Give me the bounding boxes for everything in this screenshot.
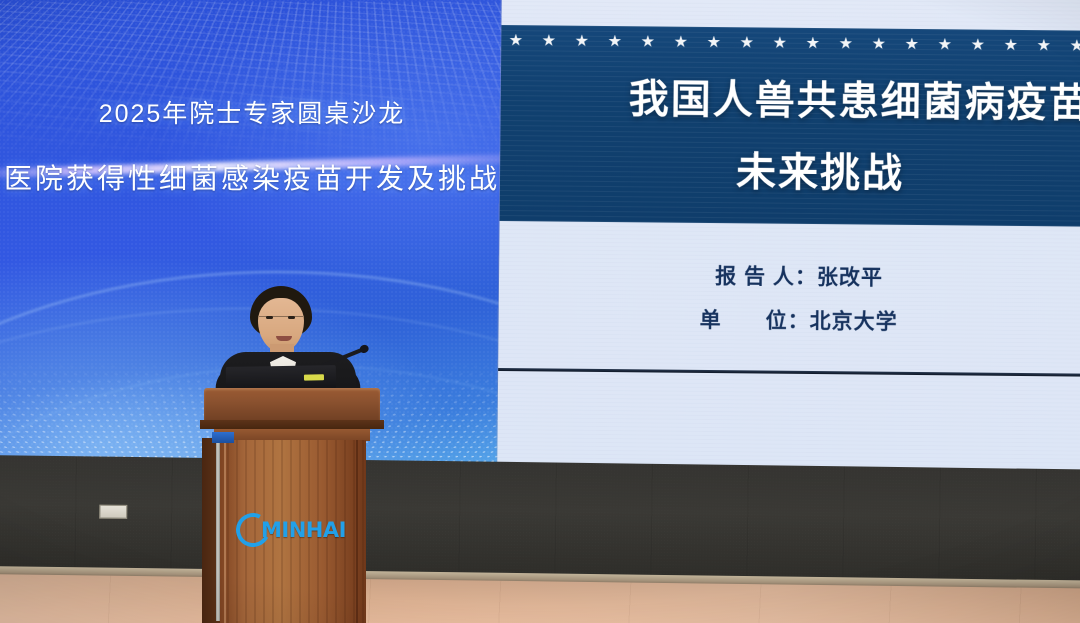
star-icon	[674, 35, 687, 48]
speaker-mouth	[276, 336, 292, 341]
slide-title-band: 我国人兽共患细菌病疫苗研 未来挑战	[500, 25, 1080, 227]
star-icon	[839, 37, 852, 50]
star-icon	[1070, 39, 1080, 52]
star-icon	[707, 35, 720, 48]
speaker-name-row: 报 告 人：张改平	[499, 258, 1080, 294]
speaker-affiliation-row: 单 位：北京大学	[499, 302, 1080, 338]
laptop-sticker	[304, 374, 324, 380]
star-icon	[905, 37, 918, 50]
stage-wall-band	[0, 455, 1080, 586]
star-icon	[872, 37, 885, 50]
star-icon	[971, 38, 984, 51]
minhai-arc-icon	[232, 509, 275, 552]
star-icon	[773, 36, 786, 49]
podium-blue-accent	[212, 432, 234, 443]
star-icon	[806, 36, 819, 49]
podium-metal-trim	[216, 443, 220, 621]
speaker-eye-left	[266, 316, 273, 319]
star-icon	[509, 34, 522, 47]
slide-speaker-info: 报 告 人：张改平 单 位：北京大学	[498, 258, 1080, 352]
star-icon	[575, 34, 588, 47]
slide-title: 我国人兽共患细菌病疫苗研 未来挑战	[500, 65, 1080, 201]
podium-lip	[200, 420, 384, 429]
star-icon	[740, 36, 753, 49]
star-icon	[542, 34, 555, 47]
speaker-eye-right	[288, 316, 295, 319]
podium-logo: MINHAI	[236, 512, 344, 548]
led-backdrop-text: 2025年院士专家圆桌沙龙 医院获得性细菌感染疫苗开发及挑战	[0, 94, 506, 197]
star-icon	[1004, 38, 1017, 51]
star-icon	[1037, 39, 1050, 52]
conference-stage-photo: 2025年院士专家圆桌沙龙 医院获得性细菌感染疫苗开发及挑战	[0, 0, 1080, 623]
slide-title-line-1: 我国人兽共患细菌病疫苗研	[621, 66, 1080, 129]
star-icon	[608, 35, 621, 48]
star-icon	[938, 38, 951, 51]
wall-outlet-plate	[99, 505, 127, 519]
projection-screen: 我国人兽共患细菌病疫苗研 未来挑战 报 告 人：张改平 单 位：北京大学	[497, 0, 1080, 476]
podium: MINHAI	[196, 388, 388, 623]
slide-title-line-2: 未来挑战	[500, 137, 1080, 201]
podium-top-surface	[204, 388, 380, 422]
event-title: 2025年院士专家圆桌沙龙	[0, 94, 506, 130]
podium-logo-text: MINHAI	[261, 518, 346, 542]
star-icon	[641, 35, 654, 48]
event-subtitle: 医院获得性细菌感染疫苗开发及挑战	[0, 157, 506, 197]
